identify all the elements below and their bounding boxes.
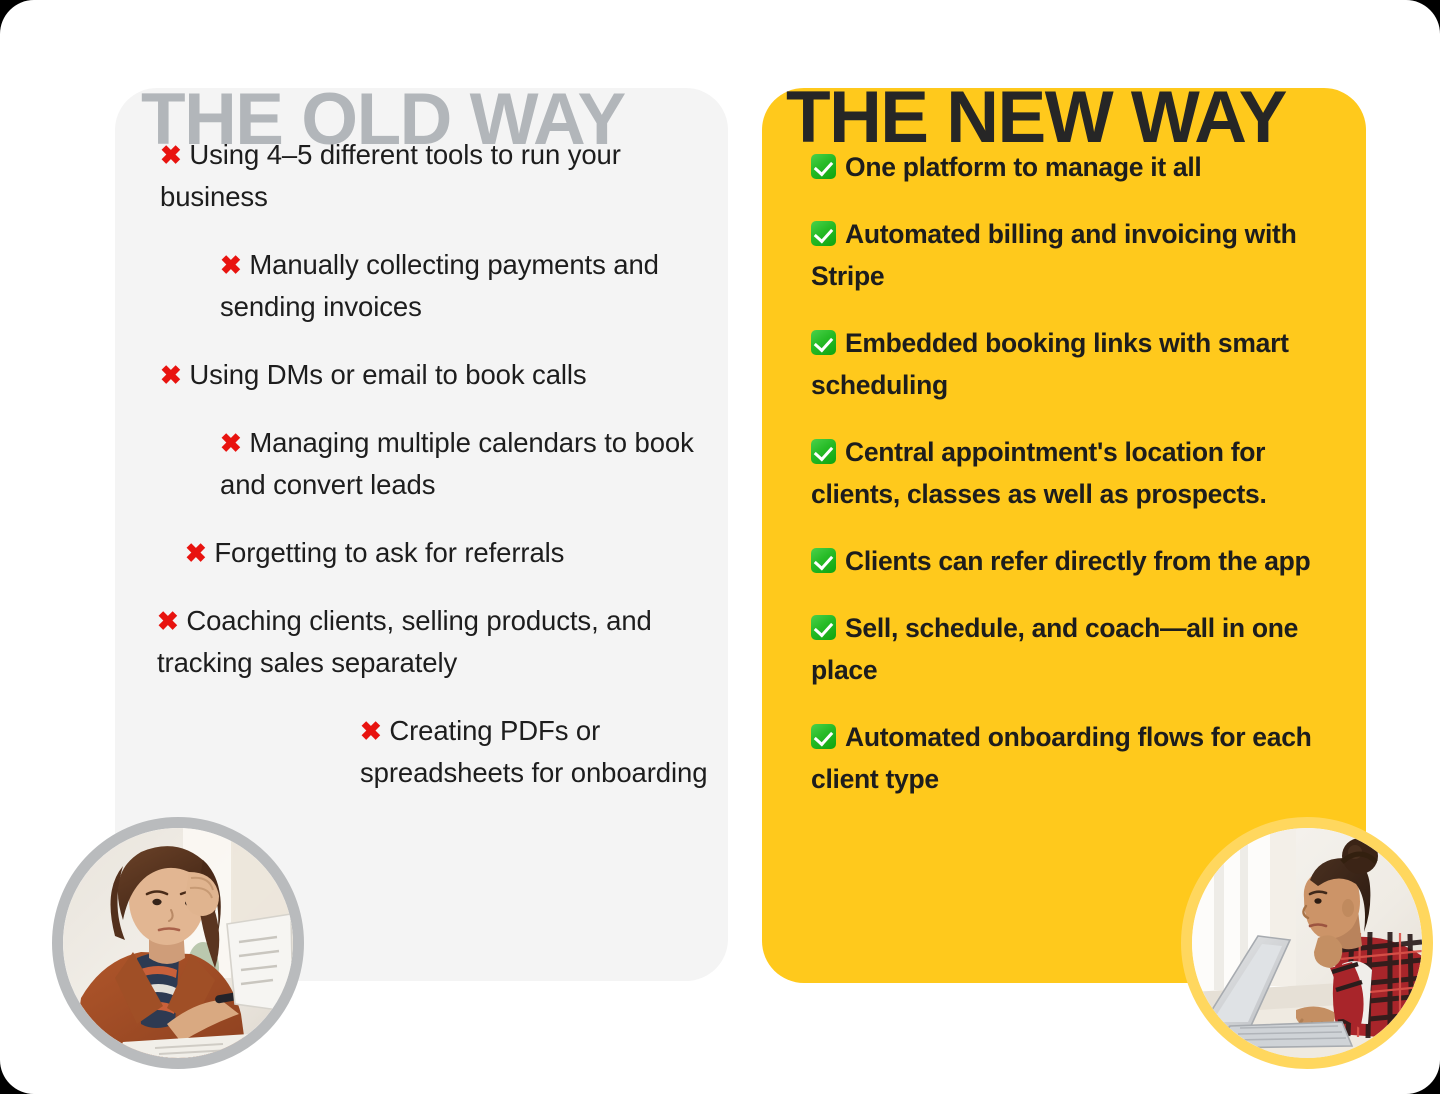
- list-item-label: Automated billing and invoicing with Str…: [811, 219, 1296, 291]
- check-mark-button-icon: [811, 330, 836, 355]
- list-item-label: Clients can refer directly from the app: [845, 546, 1310, 576]
- frustrated-woman-illustration: [63, 828, 293, 1058]
- list-item-label: Manually collecting payments and sending…: [220, 249, 659, 322]
- list-item-label: Automated onboarding flows for each clie…: [811, 722, 1312, 794]
- new-way-photo: [1181, 817, 1433, 1069]
- check-mark-button-icon: [811, 548, 836, 573]
- cross-mark-icon: ✖: [360, 716, 382, 746]
- list-item: Central appointment's location for clien…: [762, 431, 1366, 515]
- old-way-photo: [52, 817, 304, 1069]
- list-item: ✖ Using DMs or email to book calls: [115, 354, 728, 396]
- list-item-label: Forgetting to ask for referrals: [214, 537, 564, 568]
- cross-mark-icon: ✖: [220, 250, 242, 280]
- list-item: Sell, schedule, and coach—all in one pla…: [762, 607, 1366, 691]
- old-way-title: THE OLD WAY: [141, 83, 625, 156]
- check-mark-button-icon: [811, 724, 836, 749]
- list-item-label: Embedded booking links with smart schedu…: [811, 328, 1289, 400]
- check-mark-button-icon: [811, 615, 836, 640]
- list-item-label: Using DMs or email to book calls: [189, 359, 586, 390]
- cross-mark-icon: ✖: [220, 428, 242, 458]
- list-item: Automated onboarding flows for each clie…: [762, 716, 1366, 800]
- list-item: ✖ Coaching clients, selling products, an…: [115, 600, 728, 684]
- old-way-list: ✖ Using 4–5 different tools to run your …: [115, 134, 728, 820]
- list-item-label: Managing multiple calendars to book and …: [220, 427, 694, 500]
- new-way-title: THE NEW WAY: [786, 81, 1286, 154]
- list-item-label: Coaching clients, selling products, and …: [157, 605, 652, 678]
- list-item: Embedded booking links with smart schedu…: [762, 322, 1366, 406]
- comparison-graphic: THE OLD WAY ✖ Using 4–5 different tools …: [0, 0, 1440, 1094]
- cross-mark-icon: ✖: [185, 538, 207, 568]
- list-item-label: Sell, schedule, and coach—all in one pla…: [811, 613, 1298, 685]
- list-item: Clients can refer directly from the app: [762, 540, 1366, 582]
- list-item-label: Creating PDFs or spreadsheets for onboar…: [360, 715, 707, 788]
- list-item: ✖ Managing multiple calendars to book an…: [115, 422, 728, 506]
- cross-mark-icon: ✖: [157, 606, 179, 636]
- check-mark-button-icon: [811, 221, 836, 246]
- list-item: ✖ Creating PDFs or spreadsheets for onbo…: [115, 710, 728, 794]
- list-item: ✖ Manually collecting payments and sendi…: [115, 244, 728, 328]
- list-item: Automated billing and invoicing with Str…: [762, 213, 1366, 297]
- woman-on-laptop-illustration: [1192, 828, 1422, 1058]
- cross-mark-icon: ✖: [160, 360, 182, 390]
- new-way-list: One platform to manage it all Automated …: [762, 146, 1366, 825]
- check-mark-button-icon: [811, 439, 836, 464]
- list-item: ✖ Forgetting to ask for referrals: [115, 532, 728, 574]
- list-item-label: Central appointment's location for clien…: [811, 437, 1267, 509]
